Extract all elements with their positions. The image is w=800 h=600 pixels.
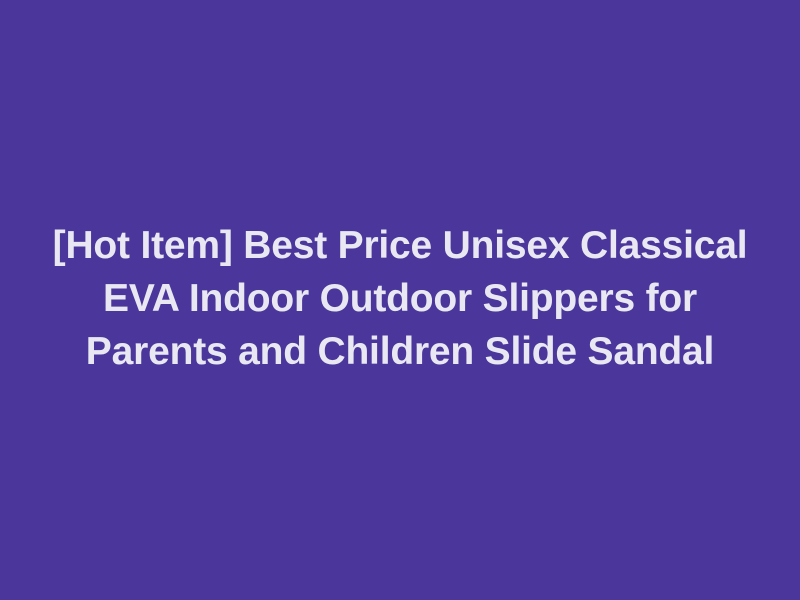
page-title-line-1: [Hot Item] Best Price Unisex Classical [53,219,748,272]
page-title-line-2: EVA Indoor Outdoor Slippers for [103,272,697,325]
page-title: [Hot Item] Best Price Unisex Classical E… [40,219,760,378]
page-title-line-3: Parents and Children Slide Sandal [86,325,714,378]
product-title-card: [Hot Item] Best Price Unisex Classical E… [0,0,800,600]
